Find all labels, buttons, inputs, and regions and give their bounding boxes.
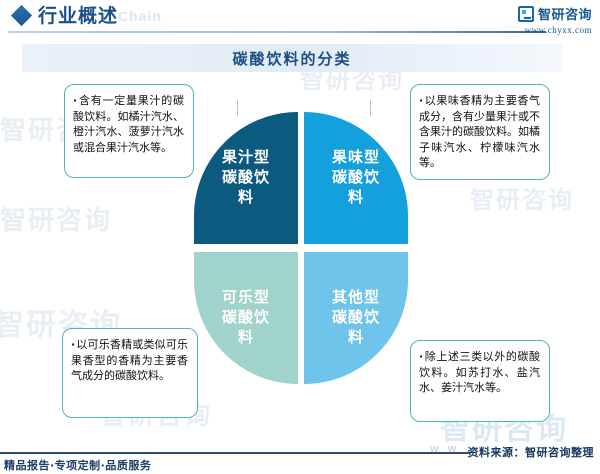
- chart-title-bar: 碳酸饮料的分类: [22, 44, 562, 72]
- header-divider: [8, 31, 546, 33]
- brand-url: www.chyxx.com: [518, 25, 592, 35]
- segment-other-type[interactable]: 其他型碳酸饮料: [304, 252, 408, 384]
- footer-source: 资料来源：智研咨询整理: [468, 444, 595, 460]
- segment-cola-type-label: 可乐型碳酸饮料: [222, 288, 270, 347]
- segment-fruit-flavor-type[interactable]: 果味型碳酸饮料: [304, 112, 408, 244]
- callout-juice-type-text: 含有一定量果汁的碳酸饮料。如橘汁汽水、橙汁汽水、菠萝汁汽水或混合果汁汽水等。: [73, 93, 184, 155]
- zhiyan-logo-icon: [518, 6, 534, 22]
- header-watermark-text: Chain: [118, 8, 162, 24]
- callout-other-type: 除上述三类以外的碳酸饮料。如苏打水、盐汽水、姜汁汽水等。: [410, 340, 550, 422]
- segment-juice-type-label: 果汁型碳酸饮料: [222, 148, 270, 207]
- brand-name: 智研咨询: [538, 4, 592, 23]
- chart-title: 碳酸饮料的分类: [232, 48, 351, 69]
- callout-fruit-flavor-type-text: 以果味香精为主要香气成分，含有少量果汁或不含果汁的碳酸饮料。如橘子味汽水、柠檬味…: [419, 93, 540, 171]
- segment-juice-type[interactable]: 果汁型碳酸饮料: [194, 112, 298, 244]
- watermark-brand: 智研咨询: [0, 200, 112, 237]
- segment-other-type-label: 其他型碳酸饮料: [332, 288, 380, 347]
- callout-juice-type: 含有一定量果汁的碳酸饮料。如橘汁汽水、橙汁汽水、菠萝汁汽水或混合果汁汽水等。: [64, 84, 194, 178]
- callout-cola-type: 以可乐香精或类似可乐果香型的香精为主要香气成分的碳酸饮料。: [62, 328, 198, 418]
- segment-cola-type[interactable]: 可乐型碳酸饮料: [194, 252, 298, 384]
- classification-circle: 果汁型碳酸饮料 果味型碳酸饮料 可乐型碳酸饮料 其他型碳酸饮料: [194, 112, 408, 384]
- page-header: 行业概述 Chain 智研咨询 www.chyxx.com: [0, 0, 600, 36]
- page-title: 行业概述: [38, 1, 118, 28]
- brand-block: 智研咨询 www.chyxx.com: [518, 4, 592, 35]
- callout-cola-type-text: 以可乐香精或类似可乐果香型的香精为主要香气成分的碳酸饮料。: [71, 337, 188, 384]
- callout-other-type-text: 除上述三类以外的碳酸饮料。如苏打水、盐汽水、姜汁汽水等。: [419, 349, 540, 396]
- segment-fruit-flavor-type-label: 果味型碳酸饮料: [332, 148, 380, 207]
- callout-fruit-flavor-type: 以果味香精为主要香气成分，含有少量果汁或不含果汁的碳酸饮料。如橘子味汽水、柠檬味…: [410, 84, 550, 180]
- watermark-brand: 智研咨询: [470, 180, 574, 215]
- footer-divider: [0, 452, 470, 454]
- footer-tagline: 精品报告·专项定制·品质服务: [4, 457, 151, 473]
- diamond-icon: [11, 5, 32, 26]
- slide-canvas: 智研咨询 智研咨询 智研咨询 智研咨询 智研咨询 智研咨询 智研咨询 w w 行…: [0, 0, 600, 474]
